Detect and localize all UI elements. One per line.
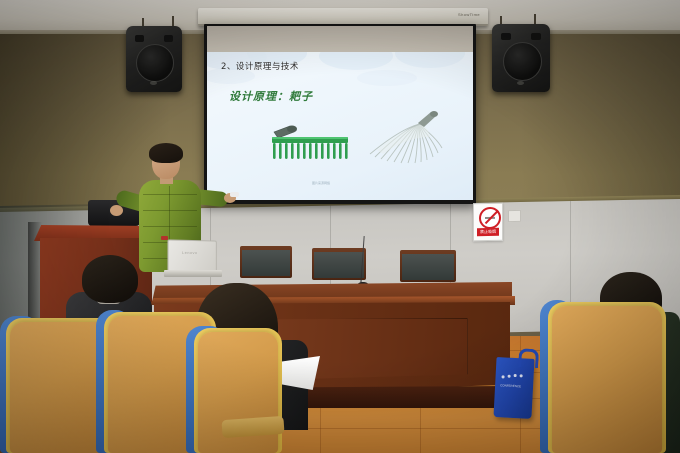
auditorium-seat[interactable]	[10, 322, 110, 453]
slide-subtitle: 设计原理：耙子	[229, 88, 313, 104]
wall-speaker-left	[126, 26, 182, 92]
tote-bag-text: CONFERENCE	[500, 383, 528, 388]
presentation-clicker[interactable]	[230, 192, 239, 197]
wall-speaker-right	[492, 24, 550, 92]
slide-credit: 图片来源网络	[312, 181, 330, 185]
wall-outlet	[508, 210, 521, 222]
presenter-left-hand	[110, 205, 123, 216]
laptop-brand-label: Lenovo	[182, 250, 197, 255]
no-smoking-icon	[479, 207, 501, 229]
blue-tote-bag: CONFERENCE	[493, 357, 534, 419]
bow-rake-icon	[262, 124, 354, 166]
table-monitor-2[interactable]	[312, 248, 366, 280]
tote-bag-handle	[518, 348, 539, 368]
presenter-hair	[149, 143, 183, 163]
auditorium-seat[interactable]	[552, 306, 662, 453]
table-monitor-1[interactable]	[240, 246, 292, 278]
audience-left-head	[82, 255, 138, 303]
slide-title: 2、设计原理与技术	[221, 60, 299, 72]
lecture-hall-photo: ShowTime 2、设计原理与技术 设计原理：耙子	[0, 0, 680, 453]
fan-rake-icon	[357, 110, 449, 165]
laptop-keyboard[interactable]	[164, 270, 222, 277]
no-smoking-sign: 禁止吸烟	[473, 203, 503, 242]
no-smoking-label: 禁止吸烟	[477, 228, 499, 236]
table-monitor-3[interactable]	[400, 250, 456, 282]
screen-top-mask	[207, 26, 473, 54]
housing-brand-label: ShowTime	[458, 12, 480, 17]
